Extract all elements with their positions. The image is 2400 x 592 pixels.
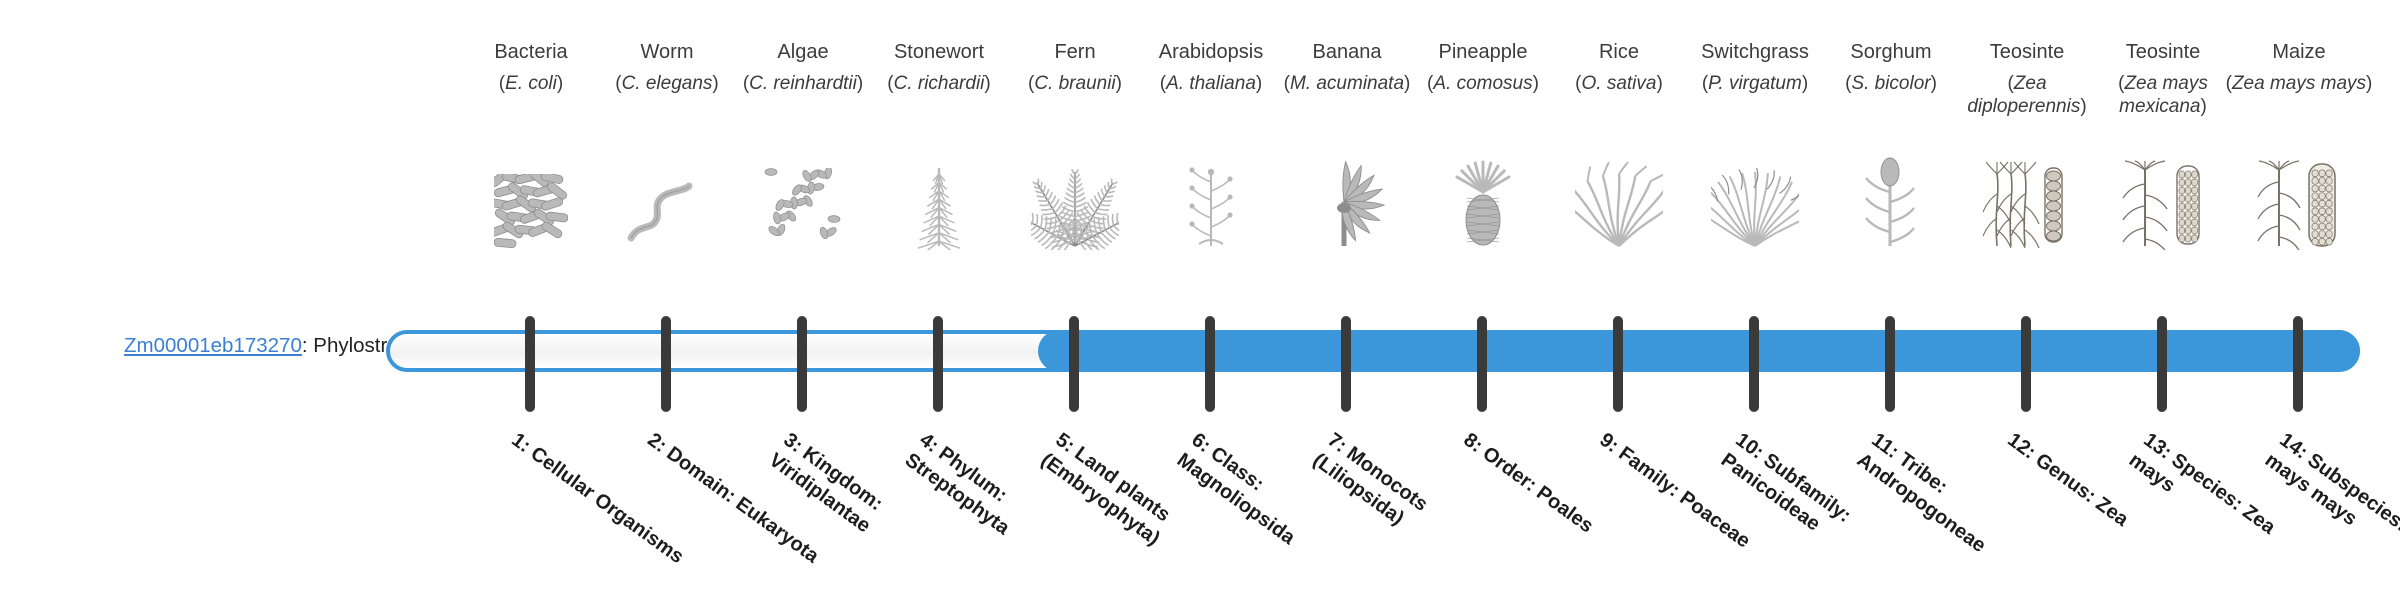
phylostratum-tick[interactable] <box>2293 316 2303 412</box>
maize-icon <box>2231 160 2367 250</box>
banana-icon <box>1279 160 1415 250</box>
species-scientific-name: (A. comosus) <box>1409 72 1557 95</box>
pineapple-icon <box>1415 160 1551 250</box>
species-scientific-name: (Zea mays mays) <box>2225 72 2373 95</box>
stonewort-icon <box>871 160 1007 250</box>
species-scientific-name: (Zea diploperennis) <box>1953 72 2101 118</box>
fern-icon <box>1007 160 1143 250</box>
species-scientific-name: (A. thaliana) <box>1137 72 1285 95</box>
phylostratum-progress-bar[interactable] <box>386 330 2360 372</box>
species-scientific-name: (C. richardii) <box>865 72 1013 95</box>
phylostratum-tick[interactable] <box>661 316 671 412</box>
species-column: Banana (M. acuminata) 7: Monocots (Lilio… <box>1279 0 1415 580</box>
species-scientific-name: (O. sativa) <box>1545 72 1693 95</box>
species-scientific-name: (Zea mays mexicana) <box>2089 72 2237 118</box>
phylostratum-tick[interactable] <box>1613 316 1623 412</box>
species-column: Worm (C. elegans) 2: Domain: Eukaryota <box>599 0 735 580</box>
species-common-name: Maize <box>2219 40 2379 64</box>
sorghum-icon <box>1823 160 1959 250</box>
species-scientific-name: (M. acuminata) <box>1273 72 1421 95</box>
phylostratum-tick[interactable] <box>2021 316 2031 412</box>
gene-phylostratum-label: Zm00001eb173270: Phylostratum 5 <box>0 333 450 359</box>
species-column: Arabidopsis (A. thaliana) 6: Class: Magn… <box>1143 0 1279 580</box>
switchgrass-icon <box>1687 160 1823 250</box>
species-scientific-name: (S. bicolor) <box>1817 72 1965 95</box>
species-column: Maize (Zea mays mays) 14: Subspecies: Ze… <box>2231 0 2367 580</box>
phylostratum-timeline: Zm00001eb173270: Phylostratum 5 Bacteria… <box>0 0 2400 580</box>
species-column: Stonewort (C. richardii) 4: Phylum: Stre… <box>871 0 1007 580</box>
phylostratum-tick[interactable] <box>797 316 807 412</box>
species-column: Teosinte (Zea mays mexicana) 13: Species… <box>2095 0 2231 580</box>
rice-icon <box>1551 160 1687 250</box>
algae-icon <box>735 160 871 250</box>
species-column: Rice (O. sativa) 9: Family: Poaceae <box>1551 0 1687 580</box>
phylostratum-tick[interactable] <box>1477 316 1487 412</box>
species-scientific-name: (C. braunii) <box>1001 72 1149 95</box>
phylostratum-tick[interactable] <box>2157 316 2167 412</box>
arabidopsis-icon <box>1143 160 1279 250</box>
species-column: Algae (C. reinhardtii) 3: Kingdom: Virid… <box>735 0 871 580</box>
species-scientific-name: (C. reinhardtii) <box>729 72 877 95</box>
species-column: Pineapple (A. comosus) 8: Order: Poales <box>1415 0 1551 580</box>
species-scientific-name: (P. virgatum) <box>1681 72 1829 95</box>
species-scientific-name: (C. elegans) <box>593 72 741 95</box>
phylostratum-tick[interactable] <box>525 316 535 412</box>
worm-icon <box>599 160 735 250</box>
teosinte-diploperennis-icon <box>1959 160 2095 250</box>
species-column: Bacteria (E. coli) 1: Cellular Organisms <box>463 0 599 580</box>
species-column: Switchgrass (P. virgatum) 10: Subfamily:… <box>1687 0 1823 580</box>
species-column: Fern (C. braunii) 5: Land plants (Embryo… <box>1007 0 1143 580</box>
phylostratum-tick[interactable] <box>1205 316 1215 412</box>
teosinte-mexicana-icon <box>2095 160 2231 250</box>
species-column: Teosinte (Zea diploperennis) 12: Genus: … <box>1959 0 2095 580</box>
phylostratum-tick[interactable] <box>933 316 943 412</box>
phylostratum-tick[interactable] <box>1749 316 1759 412</box>
phylostratum-tick[interactable] <box>1885 316 1895 412</box>
bacteria-icon <box>463 160 599 250</box>
species-column: Sorghum (S. bicolor) 11: Tribe: Andropog… <box>1823 0 1959 580</box>
gene-accession-link[interactable]: Zm00001eb173270 <box>124 334 302 357</box>
gene-label-separator: : <box>302 334 313 357</box>
phylostratum-rank-label: 14: Subspecies: Zea mays mays <box>2260 428 2400 592</box>
phylostratum-tick[interactable] <box>1069 316 1079 412</box>
species-scientific-name: (E. coli) <box>457 72 605 95</box>
phylostratum-tick[interactable] <box>1341 316 1351 412</box>
